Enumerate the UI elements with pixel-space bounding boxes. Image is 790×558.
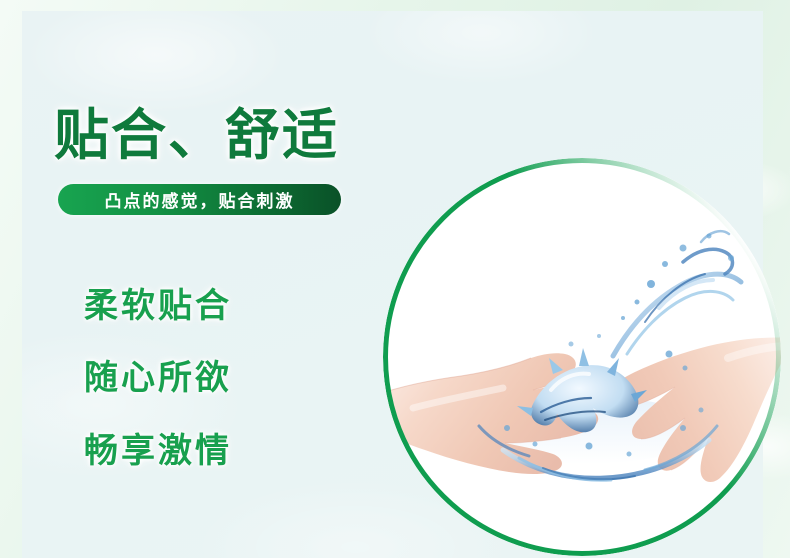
banner-stage: 贴合、舒适 凸点的感觉，贴合刺激 柔软贴合 随心所欲 畅享激情: [0, 0, 790, 558]
hands-water-photo: [383, 158, 781, 556]
feature-item-2: 随心所欲: [84, 350, 232, 399]
status-badge: 凸点的感觉，贴合刺激: [58, 184, 341, 215]
feature-item-1: 柔软贴合: [84, 278, 232, 327]
page-title: 贴合、舒适: [54, 108, 339, 163]
text-column: 贴合、舒适 凸点的感觉，贴合刺激 柔软贴合 随心所欲 畅享激情: [0, 0, 400, 558]
feature-item-3: 畅享激情: [84, 423, 232, 472]
hands-water-illustration: [383, 158, 781, 556]
